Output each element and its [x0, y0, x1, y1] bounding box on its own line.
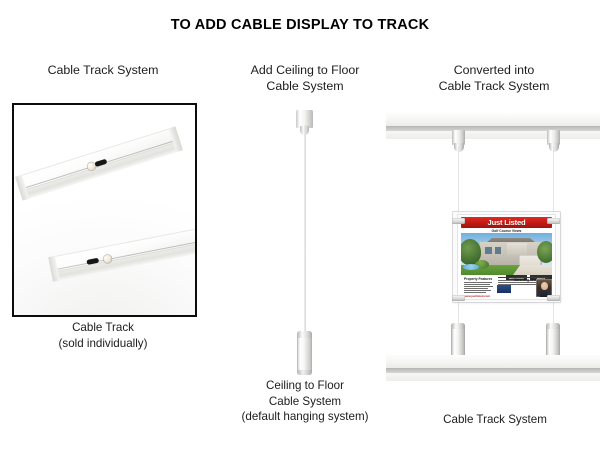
track-face: [386, 355, 600, 368]
flyer-subtitle: Golf Course Views: [461, 229, 552, 233]
text-line: [464, 290, 491, 291]
brokerage-logo: [497, 285, 511, 293]
panel-heading-cable-track-system: Cable Track System: [12, 62, 194, 78]
text-line: [464, 292, 486, 293]
text-line: [464, 288, 488, 289]
panel-heading-ceiling-to-floor: Add Ceiling to Floor Cable System: [215, 62, 395, 94]
track-rail-bottom: [386, 355, 600, 381]
panel-holder-top-right: [547, 218, 560, 224]
flyer-banner-text: Just Listed: [461, 218, 552, 227]
text-line: [464, 284, 490, 285]
connector-screw-icon: [103, 254, 112, 263]
house-window: [495, 247, 501, 254]
panel-holder-top-left: [452, 218, 465, 224]
track-rail-top: [386, 113, 600, 139]
page-title: TO ADD CABLE DISPLAY TO TRACK: [0, 17, 600, 33]
flyer-detail-heading: Property Features: [464, 277, 492, 281]
house-window: [485, 247, 492, 254]
text-line: [464, 282, 492, 283]
panel-holder-bottom-left: [452, 295, 465, 301]
flyer-house-photo: [461, 233, 552, 275]
panel-holder-bottom-right: [547, 295, 560, 301]
track-face: [386, 113, 600, 126]
track-lip: [386, 131, 600, 139]
panel-caption-cable-track: Cable Track (sold individually): [8, 320, 198, 351]
tree-right: [537, 241, 552, 263]
panel-caption-ceiling-to-floor: Ceiling to Floor Cable System (default h…: [212, 378, 398, 425]
flyer-website: www.justlisted.com: [464, 294, 490, 298]
track-lip: [386, 373, 600, 381]
text-line: [464, 286, 493, 287]
agent-face: [541, 282, 548, 290]
just-listed-flyer: Just Listed Golf Course Views Bedrooms B…: [458, 215, 555, 299]
steel-cable: [304, 125, 306, 357]
pond: [463, 264, 479, 270]
ceiling-to-floor-photo: [215, 103, 395, 373]
house-gable: [507, 243, 527, 255]
cable-track-photo: [12, 103, 197, 317]
floor-tensioner: [297, 331, 312, 375]
converted-cable-track-photo: Just Listed Golf Course Views Bedrooms B…: [386, 103, 600, 403]
flyer-banner: Just Listed: [461, 217, 552, 228]
panel-caption-cable-track-system: Cable Track System: [400, 412, 590, 428]
panel-heading-converted-into: Converted into Cable Track System: [398, 62, 590, 94]
